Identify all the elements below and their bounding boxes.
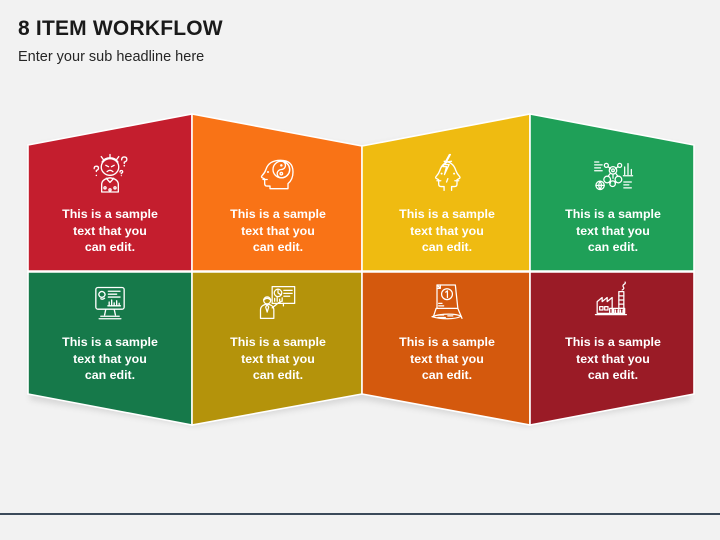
workflow-item-8[interactable]: This is a sample text that you can edit. <box>0 0 720 540</box>
factory-icon <box>586 280 640 330</box>
workflow-item-8-shape <box>0 0 720 540</box>
workflow-diagram: This is a sample text that you can edit. <box>0 0 720 540</box>
slide-canvas: 8 ITEM WORKFLOW Enter your sub headline … <box>0 0 720 540</box>
workflow-item-8-text: This is a sample text that you can edit. <box>532 334 694 384</box>
footer-rule <box>0 513 720 515</box>
